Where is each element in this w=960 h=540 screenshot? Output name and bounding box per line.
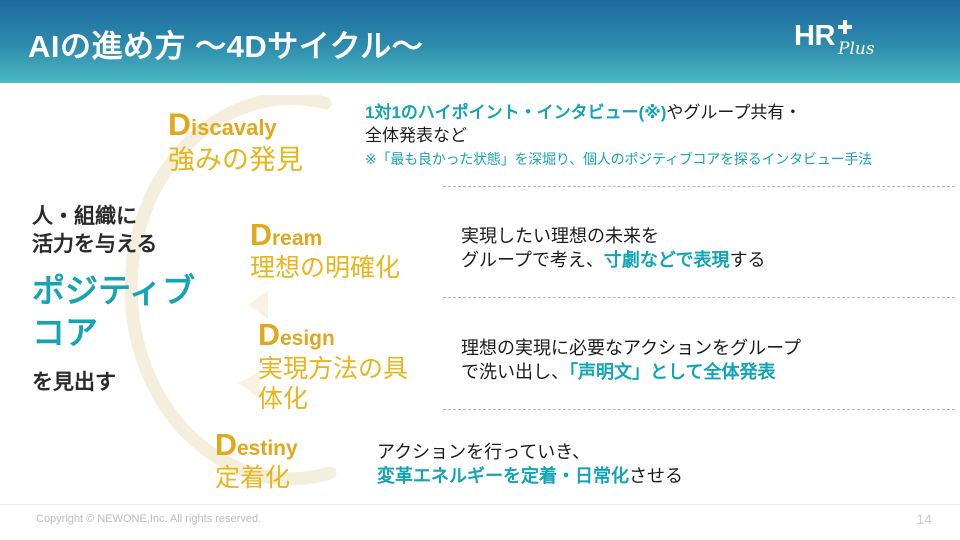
desc-footnote: ※「最も良かった状態」を深堀り、個人のポジティブコアを探るインタビュー手法 (365, 149, 872, 169)
positive-core-line-2: コア (32, 312, 222, 354)
desc-plain-post: する (730, 250, 766, 270)
cycle-item-destiny-jp: 定着化 (215, 464, 298, 494)
cycle-item-design-en: Design (258, 320, 408, 352)
plus-cross-icon (838, 20, 852, 34)
cycle-word-rest: estiny (237, 437, 298, 460)
cycle-item-dream-jp: 理想の明確化 (250, 254, 400, 284)
desc-highlight: 寸劇などで表現 (604, 250, 730, 270)
cycle-item-discovery-jp: 強みの発見 (168, 145, 303, 177)
desc-highlight: 「声明文」として全体発表 (569, 362, 775, 382)
desc-line-1: 実現したい理想の未来を (461, 224, 766, 248)
cycle-arrow-head-mid (238, 371, 260, 399)
cycle-item-dream-en: Dream (250, 220, 400, 252)
copyright-text: Copyright © NEWONE,Inc. All rights reser… (36, 513, 261, 525)
left-line-1: 人・組織に (32, 203, 222, 231)
cycle-initial-d: D (215, 428, 237, 462)
desc-line-1: 1対1のハイポイント・インタビュー(※)やグループ共有・ (365, 101, 872, 124)
page-title: AIの進め方 〜4Dサイクル〜 (28, 21, 423, 66)
desc-line-1: 理想の実現に必要なアクションをグループ (461, 336, 801, 360)
cycle-item-destiny: Destiny 定着化 (215, 430, 298, 493)
desc-line-2: グループで考え、寸劇などで表現する (461, 248, 766, 272)
hrplus-logo: HR Plus (794, 22, 914, 70)
desc-line-1: アクションを行っていき、 (377, 440, 683, 464)
desc-highlight: 変革エネルギーを定着・日常化 (377, 466, 629, 486)
desc-highlight: 1対1のハイポイント・インタビュー(※) (365, 103, 666, 122)
desc-line-2: 変革エネルギーを定着・日常化させる (377, 464, 683, 488)
logo-text-plus: Plus (838, 41, 875, 58)
cycle-arrow-head-left (248, 291, 268, 319)
row-separator-3 (443, 409, 955, 410)
desc-plain: やグループ共有・ (666, 103, 801, 122)
footer-divider (0, 504, 960, 505)
desc-plain-post: させる (629, 466, 683, 486)
logo-text-hr: HR (794, 22, 835, 51)
cycle-desc-design: 理想の実現に必要なアクションをグループ で洗い出し、「声明文」として全体発表 (461, 336, 801, 384)
cycle-item-design: Design 実現方法の具 体化 (258, 320, 408, 414)
cycle-item-discovery: Discavaly 強みの発見 (168, 108, 303, 176)
cycle-desc-destiny: アクションを行っていき、 変革エネルギーを定着・日常化させる (377, 440, 683, 488)
cycle-word-rest: iscavaly (191, 115, 277, 140)
cycle-item-design-jp-line2: 体化 (258, 384, 408, 414)
desc-line-2: で洗い出し、「声明文」として全体発表 (461, 360, 801, 384)
cycle-item-dream: Dream 理想の明確化 (250, 220, 400, 283)
positive-core-line-1: ポジティブ (32, 270, 222, 312)
left-line-2: 活力を与える (32, 231, 222, 259)
page-number: 14 (916, 511, 932, 527)
cycle-item-design-jp-line1: 実現方法の具 (258, 354, 408, 384)
positive-core-block: 人・組織に 活力を与える ポジティブ コア を見出す (32, 203, 222, 396)
desc-plain-pre: で洗い出し、 (461, 362, 569, 382)
slide-header: AIの進め方 〜4Dサイクル〜 HR Plus (0, 0, 960, 83)
desc-line-2: 全体発表など (365, 124, 872, 147)
cycle-item-discovery-en: Discavaly (168, 108, 303, 142)
cycle-desc-dream: 実現したい理想の未来を グループで考え、寸劇などで表現する (461, 224, 766, 272)
cycle-initial-d: D (168, 106, 191, 142)
cycle-initial-d: D (250, 218, 272, 252)
row-separator-1 (443, 186, 955, 187)
cycle-initial-d: D (258, 318, 280, 352)
header-underline (0, 83, 960, 87)
cycle-word-rest: esign (280, 327, 335, 350)
row-separator-2 (443, 297, 955, 298)
cycle-desc-discovery: 1対1のハイポイント・インタビュー(※)やグループ共有・ 全体発表など ※「最も… (365, 101, 872, 169)
desc-plain-pre: グループで考え、 (461, 250, 604, 270)
left-tail-text: を見出す (32, 366, 222, 396)
cycle-word-rest: ream (272, 227, 322, 250)
cycle-item-destiny-en: Destiny (215, 430, 298, 462)
